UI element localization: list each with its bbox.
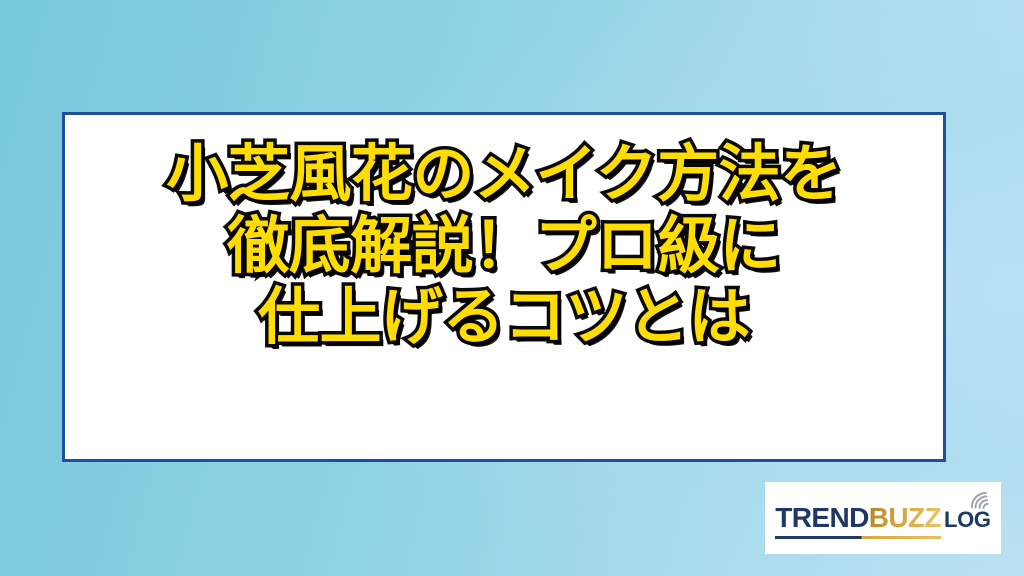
headline: 小芝風花のメイク方法を 徹底解説！プロ級に 仕上げるコツとは: [65, 141, 943, 350]
headline-line-2: 徹底解説！プロ級に: [65, 213, 943, 279]
logo-text-trend: TREND: [775, 504, 868, 532]
title-panel: 小芝風花のメイク方法を 徹底解説！プロ級に 仕上げるコツとは: [62, 112, 946, 462]
logo-text-log: LOG: [944, 509, 991, 531]
logo-inner: TREND BUZZ LOG: [771, 504, 994, 532]
logo-underline: [775, 536, 941, 539]
logo-text-buzz: BUZZ: [869, 504, 941, 532]
thumbnail-canvas: 小芝風花のメイク方法を 徹底解説！プロ級に 仕上げるコツとは TREND BUZ…: [0, 0, 1024, 576]
signal-waves-icon: [971, 487, 997, 509]
headline-line-3: 仕上げるコツとは: [65, 284, 943, 350]
logo-card[interactable]: TREND BUZZ LOG: [765, 482, 1001, 554]
headline-line-1: 小芝風花のメイク方法を: [65, 141, 943, 207]
logo-wordmark: TREND BUZZ: [775, 504, 941, 532]
